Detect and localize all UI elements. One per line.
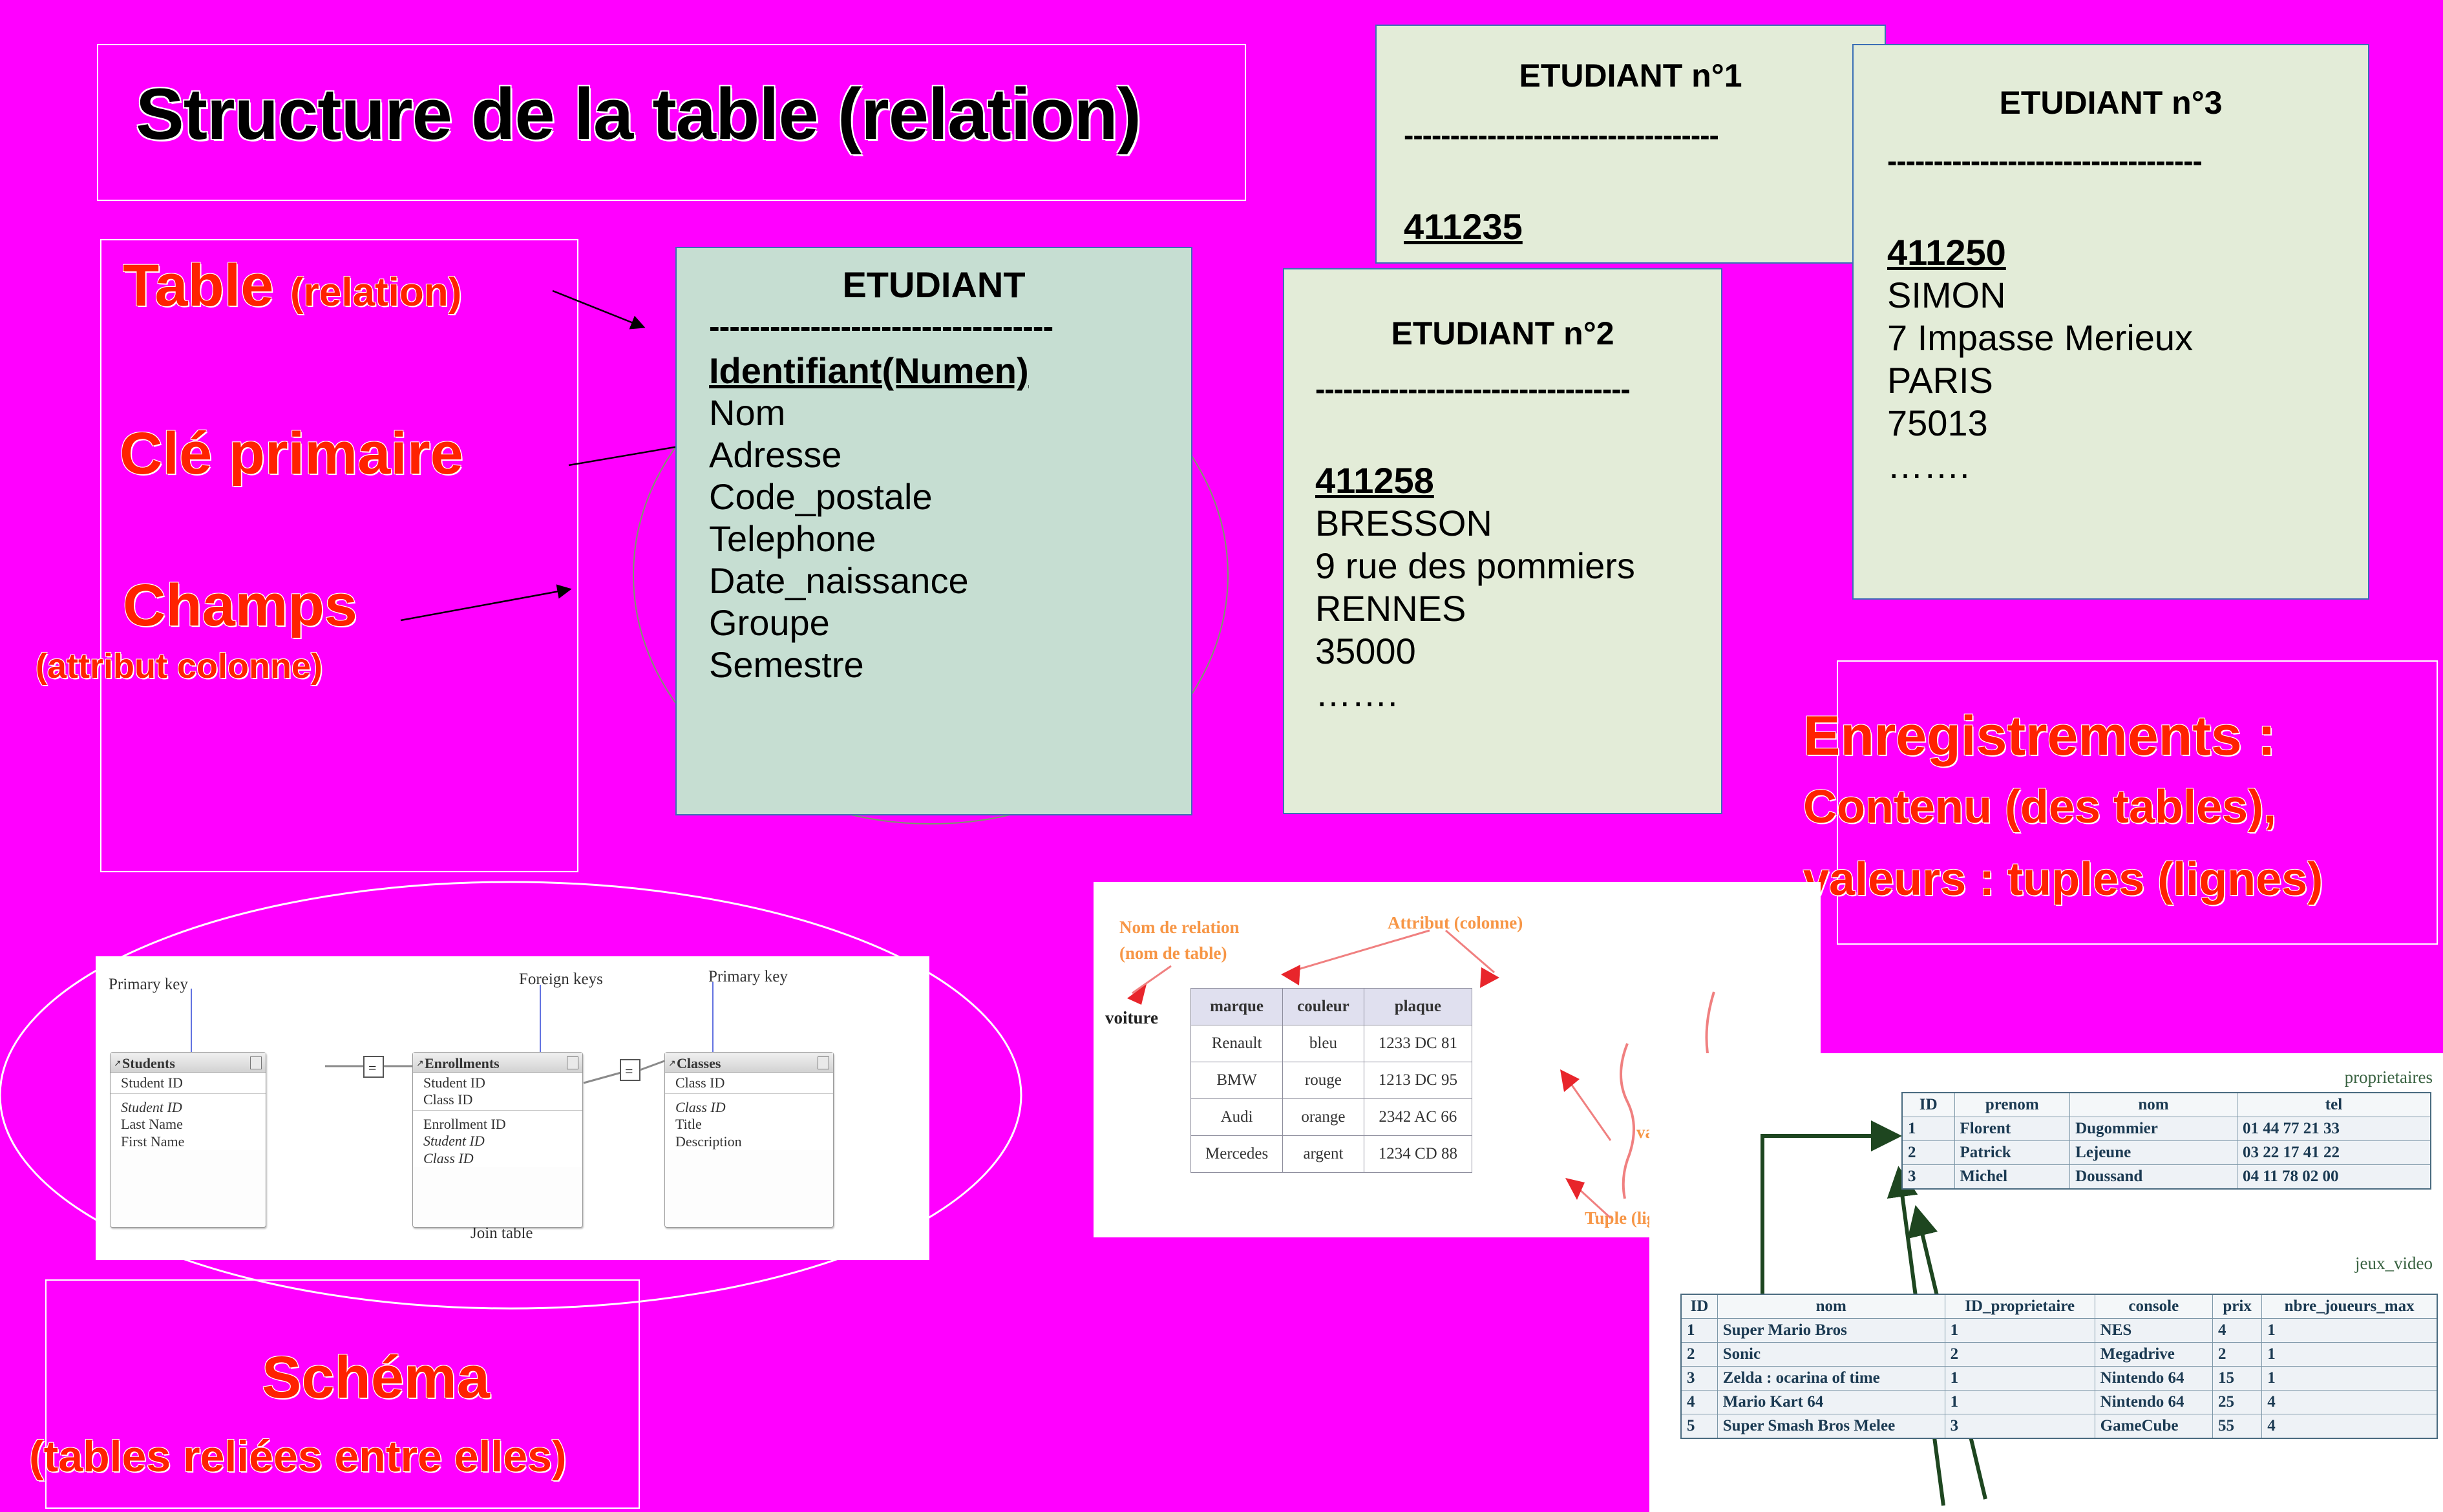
col-header: ID	[1902, 1093, 1954, 1117]
label-champs: Champs	[123, 572, 357, 640]
cell: argent	[1283, 1136, 1364, 1173]
cell: 1	[1945, 1391, 2095, 1414]
cell: 03 22 17 41 22	[2237, 1141, 2431, 1165]
relational-tables-image: proprietaires jeux_video ID prenom nom t…	[1649, 1053, 2443, 1512]
record-card-body: 411250 SIMON 7 Impasse Merieux PARIS 750…	[1887, 189, 2193, 488]
table-row: BMW rouge 1213 DC 95	[1191, 1062, 1472, 1099]
cell: Mercedes	[1191, 1136, 1283, 1173]
etudiant-field: Semestre	[709, 644, 1187, 686]
er-table-fields: Student ID Last Name First Name	[111, 1094, 266, 1150]
table-row: Mercedes argent 1234 CD 88	[1191, 1136, 1472, 1173]
cell: Nintendo 64	[2095, 1391, 2212, 1414]
cell: Dugommier	[2070, 1117, 2237, 1141]
header-row: ID nom ID_proprietaire console prix nbre…	[1681, 1294, 2437, 1319]
record-card-3: ETUDIANT n°3 ---------------------------…	[1852, 44, 2369, 600]
jeux-video-table: ID nom ID_proprietaire console prix nbre…	[1680, 1294, 2438, 1439]
cell: 1	[2262, 1367, 2437, 1391]
record-card-separator: ----------------------------------	[1887, 154, 2340, 169]
voiture-table: marque couleur plaque Renault bleu 1233 …	[1190, 988, 1472, 1173]
label-champs-sub: (attribut colonne)	[36, 646, 323, 686]
cell: Zelda : ocarina of time	[1717, 1367, 1945, 1391]
er-table-name: Enrollments	[425, 1055, 500, 1072]
col-header: nom	[1717, 1294, 1945, 1319]
cell: Super Smash Bros Melee	[1717, 1414, 1945, 1439]
cell: Super Mario Bros	[1717, 1319, 1945, 1343]
table-row: 4 Mario Kart 64 1 Nintendo 64 25 4	[1681, 1391, 2437, 1414]
er-field: Class ID	[423, 1150, 582, 1167]
cell: 2	[1681, 1343, 1717, 1367]
record-card-separator: ----------------------------------	[1404, 128, 1856, 143]
er-key-field: Student ID	[423, 1075, 582, 1091]
expand-arrow-icon: ↗	[416, 1058, 424, 1069]
record-card-separator: ----------------------------------	[1315, 382, 1716, 397]
proprietaires-table: ID prenom nom tel 1 Florent Dugommier 01…	[1901, 1092, 2431, 1190]
cell: 2342 AC 66	[1364, 1099, 1472, 1136]
record-card-title: ETUDIANT n°2	[1284, 315, 1721, 352]
er-table-keys: Student ID	[111, 1073, 266, 1094]
col-header: ID	[1681, 1294, 1717, 1319]
cell: 1	[1945, 1367, 2095, 1391]
er-table-header: ↗ Enrollments	[413, 1053, 582, 1073]
cell: 5	[1681, 1414, 1717, 1439]
label-enregistrements-line2: Contenu (des tables),	[1803, 781, 2276, 834]
svg-text:=: =	[368, 1060, 376, 1076]
voiture-label-nom-relation-2: (nom de table)	[1119, 943, 1227, 963]
table-row: 1 Super Mario Bros 1 NES 4 1	[1681, 1319, 2437, 1343]
label-table-main: Table	[123, 253, 273, 319]
table-row: 5 Super Smash Bros Melee 3 GameCube 55 4	[1681, 1414, 2437, 1439]
cell: NES	[2095, 1319, 2212, 1343]
er-table-keys: Student ID Class ID	[413, 1073, 582, 1111]
cell: GameCube	[2095, 1414, 2212, 1439]
table-menu-icon	[250, 1056, 262, 1069]
cell: 2	[2213, 1343, 2262, 1367]
voiture-label-nom-relation-1: Nom de relation	[1119, 918, 1239, 938]
cell: Audi	[1191, 1099, 1283, 1136]
er-key-field: Student ID	[121, 1075, 266, 1091]
voiture-label-attribut: Attribut (colonne)	[1388, 913, 1523, 933]
cell: bleu	[1283, 1025, 1364, 1062]
cell: 1	[2262, 1343, 2437, 1367]
cell: 55	[2213, 1414, 2262, 1439]
etudiant-title: ETUDIANT	[677, 264, 1191, 306]
cell: Michel	[1954, 1165, 2070, 1190]
cell: 4	[2262, 1414, 2437, 1439]
cell: BMW	[1191, 1062, 1283, 1099]
col-header: console	[2095, 1294, 2212, 1319]
er-field: Student ID	[423, 1133, 582, 1150]
voiture-header-row: marque couleur plaque	[1191, 989, 1472, 1025]
cell: 1213 DC 95	[1364, 1062, 1472, 1099]
etudiant-primary-key: Identifiant(Numen)	[709, 350, 1187, 392]
voiture-col-header: plaque	[1364, 989, 1472, 1025]
cell: Nintendo 64	[2095, 1367, 2212, 1391]
cell: Mario Kart 64	[1717, 1391, 1945, 1414]
cell: Patrick	[1954, 1141, 2070, 1165]
er-field: Class ID	[675, 1099, 833, 1116]
er-field: Enrollment ID	[423, 1116, 582, 1133]
col-header: prenom	[1954, 1093, 2070, 1117]
er-table-fields: Enrollment ID Student ID Class ID	[413, 1111, 582, 1167]
label-table: Table (relation)	[123, 252, 461, 320]
etudiant-field: Code_postale	[709, 476, 1187, 518]
cell: 4	[2262, 1391, 2437, 1414]
cell: 4	[1681, 1391, 1717, 1414]
cell: Doussand	[2070, 1165, 2237, 1190]
record-card-2: ETUDIANT n°2 ---------------------------…	[1283, 268, 1722, 814]
er-field: Last Name	[121, 1116, 266, 1133]
voiture-col-header: marque	[1191, 989, 1283, 1025]
etudiant-structure-box: ETUDIANT -------------------------------…	[675, 247, 1192, 815]
er-label-foreign-keys: Foreign keys	[519, 971, 603, 989]
jeux-video-caption: jeux_video	[2355, 1254, 2433, 1274]
etudiant-separator: ----------------------------------	[709, 318, 1161, 336]
col-header: ID_proprietaire	[1945, 1294, 2095, 1319]
label-enregistrements-line3: valeurs : tuples (lignes)	[1803, 853, 2323, 906]
proprietaires-caption: proprietaires	[2345, 1067, 2433, 1087]
er-label-primary-key-left: Primary key	[109, 976, 188, 994]
table-menu-icon	[818, 1056, 829, 1069]
cell: 25	[2213, 1391, 2262, 1414]
col-header: tel	[2237, 1093, 2431, 1117]
er-field: First Name	[121, 1133, 266, 1150]
record-card-lines: BRESSON 9 rue des pommiers RENNES 35000 …	[1315, 503, 1635, 714]
table-row: Renault bleu 1233 DC 81	[1191, 1025, 1472, 1062]
cell: 3	[1902, 1165, 1954, 1190]
er-table-keys: Class ID	[665, 1073, 833, 1094]
table-row: 3 Michel Doussand 04 11 78 02 00	[1902, 1165, 2431, 1190]
voiture-col-header: couleur	[1283, 989, 1364, 1025]
svg-text:=: =	[625, 1063, 633, 1079]
table-row: 2 Sonic 2 Megadrive 2 1	[1681, 1343, 2437, 1367]
cell: Renault	[1191, 1025, 1283, 1062]
cell: 1	[1945, 1319, 2095, 1343]
table-row: 1 Florent Dugommier 01 44 77 21 33	[1902, 1117, 2431, 1141]
slide-canvas: Structure de la table (relation) Table (…	[0, 0, 2443, 1512]
record-card-lines: SIMON 7 Impasse Merieux PARIS 75013 …….	[1887, 275, 2193, 486]
er-key-field: Class ID	[423, 1091, 582, 1108]
cell: 1234 CD 88	[1364, 1136, 1472, 1173]
cell: 1	[2262, 1319, 2437, 1343]
er-table-name: Classes	[677, 1055, 721, 1072]
cell: 4	[2213, 1319, 2262, 1343]
record-card-title: ETUDIANT n°3	[1854, 84, 2368, 121]
cell: 1233 DC 81	[1364, 1025, 1472, 1062]
etudiant-field: Nom	[709, 392, 1187, 434]
label-schema: Schéma	[262, 1344, 490, 1412]
er-table-classes: ↗ Classes Class ID Class ID Title Descri…	[664, 1052, 834, 1228]
er-table-header: ↗ Classes	[665, 1053, 833, 1073]
cell: Florent	[1954, 1117, 2070, 1141]
header-row: ID prenom nom tel	[1902, 1093, 2431, 1117]
etudiant-field: Telephone	[709, 518, 1187, 560]
record-card-body: 411258 BRESSON 9 rue des pommiers RENNES…	[1315, 417, 1635, 716]
cell: 2	[1902, 1141, 1954, 1165]
cell: Megadrive	[2095, 1343, 2212, 1367]
left-label-frame	[100, 239, 578, 872]
er-diagram-image: Primary key Foreign keys Primary key Joi…	[96, 956, 929, 1260]
cell: rouge	[1283, 1062, 1364, 1099]
er-field: Title	[675, 1116, 833, 1133]
table-menu-icon	[567, 1056, 578, 1069]
record-card-1: ETUDIANT n°1 ---------------------------…	[1375, 25, 1886, 264]
cell: 3	[1681, 1367, 1717, 1391]
cell: 01 44 77 21 33	[2237, 1117, 2431, 1141]
cell: 3	[1945, 1414, 2095, 1439]
cell: Sonic	[1717, 1343, 1945, 1367]
label-table-sub: (relation)	[290, 270, 461, 315]
table-row: 2 Patrick Lejeune 03 22 17 41 22	[1902, 1141, 2431, 1165]
record-card-id: 411250	[1887, 232, 2006, 273]
er-key-field: Class ID	[675, 1075, 833, 1091]
er-table-name: Students	[122, 1055, 175, 1072]
table-row: Audi orange 2342 AC 66	[1191, 1099, 1472, 1136]
label-schema-sub: (tables reliées entre elles)	[29, 1431, 567, 1482]
etudiant-field: Adresse	[709, 434, 1187, 476]
er-field: Student ID	[121, 1099, 266, 1116]
cell: 2	[1945, 1343, 2095, 1367]
cell: 1	[1902, 1117, 1954, 1141]
record-card-body: 411235	[1404, 163, 1523, 248]
er-table-header: ↗ Students	[111, 1053, 266, 1073]
label-cle-primaire: Clé primaire	[120, 420, 463, 488]
col-header: nbre_joueurs_max	[2262, 1294, 2437, 1319]
etudiant-field: Groupe	[709, 602, 1187, 644]
voiture-table-name: voiture	[1105, 1008, 1158, 1028]
expand-arrow-icon: ↗	[114, 1058, 122, 1069]
record-card-title: ETUDIANT n°1	[1377, 57, 1885, 94]
er-label-primary-key-right: Primary key	[708, 968, 788, 986]
etudiant-field-list: Identifiant(Numen) Nom Adresse Code_post…	[709, 350, 1187, 686]
er-table-enrollments: ↗ Enrollments Student ID Class ID Enroll…	[412, 1052, 583, 1228]
table-row: 3 Zelda : ocarina of time 1 Nintendo 64 …	[1681, 1367, 2437, 1391]
page-title: Structure de la table (relation)	[136, 72, 1221, 156]
cell: Lejeune	[2070, 1141, 2237, 1165]
er-table-fields: Class ID Title Description	[665, 1094, 833, 1150]
cell: 15	[2213, 1367, 2262, 1391]
col-header: nom	[2070, 1093, 2237, 1117]
cell: orange	[1283, 1099, 1364, 1136]
cell: 1	[1681, 1319, 1717, 1343]
record-card-id: 411235	[1404, 206, 1523, 247]
record-card-id: 411258	[1315, 460, 1434, 501]
etudiant-field: Date_naissance	[709, 560, 1187, 602]
col-header: prix	[2213, 1294, 2262, 1319]
label-enregistrements: Enregistrements :	[1803, 704, 2276, 768]
cell: 04 11 78 02 00	[2237, 1165, 2431, 1190]
expand-arrow-icon: ↗	[668, 1058, 676, 1069]
er-field: Description	[675, 1133, 833, 1150]
er-table-students: ↗ Students Student ID Student ID Last Na…	[110, 1052, 266, 1228]
